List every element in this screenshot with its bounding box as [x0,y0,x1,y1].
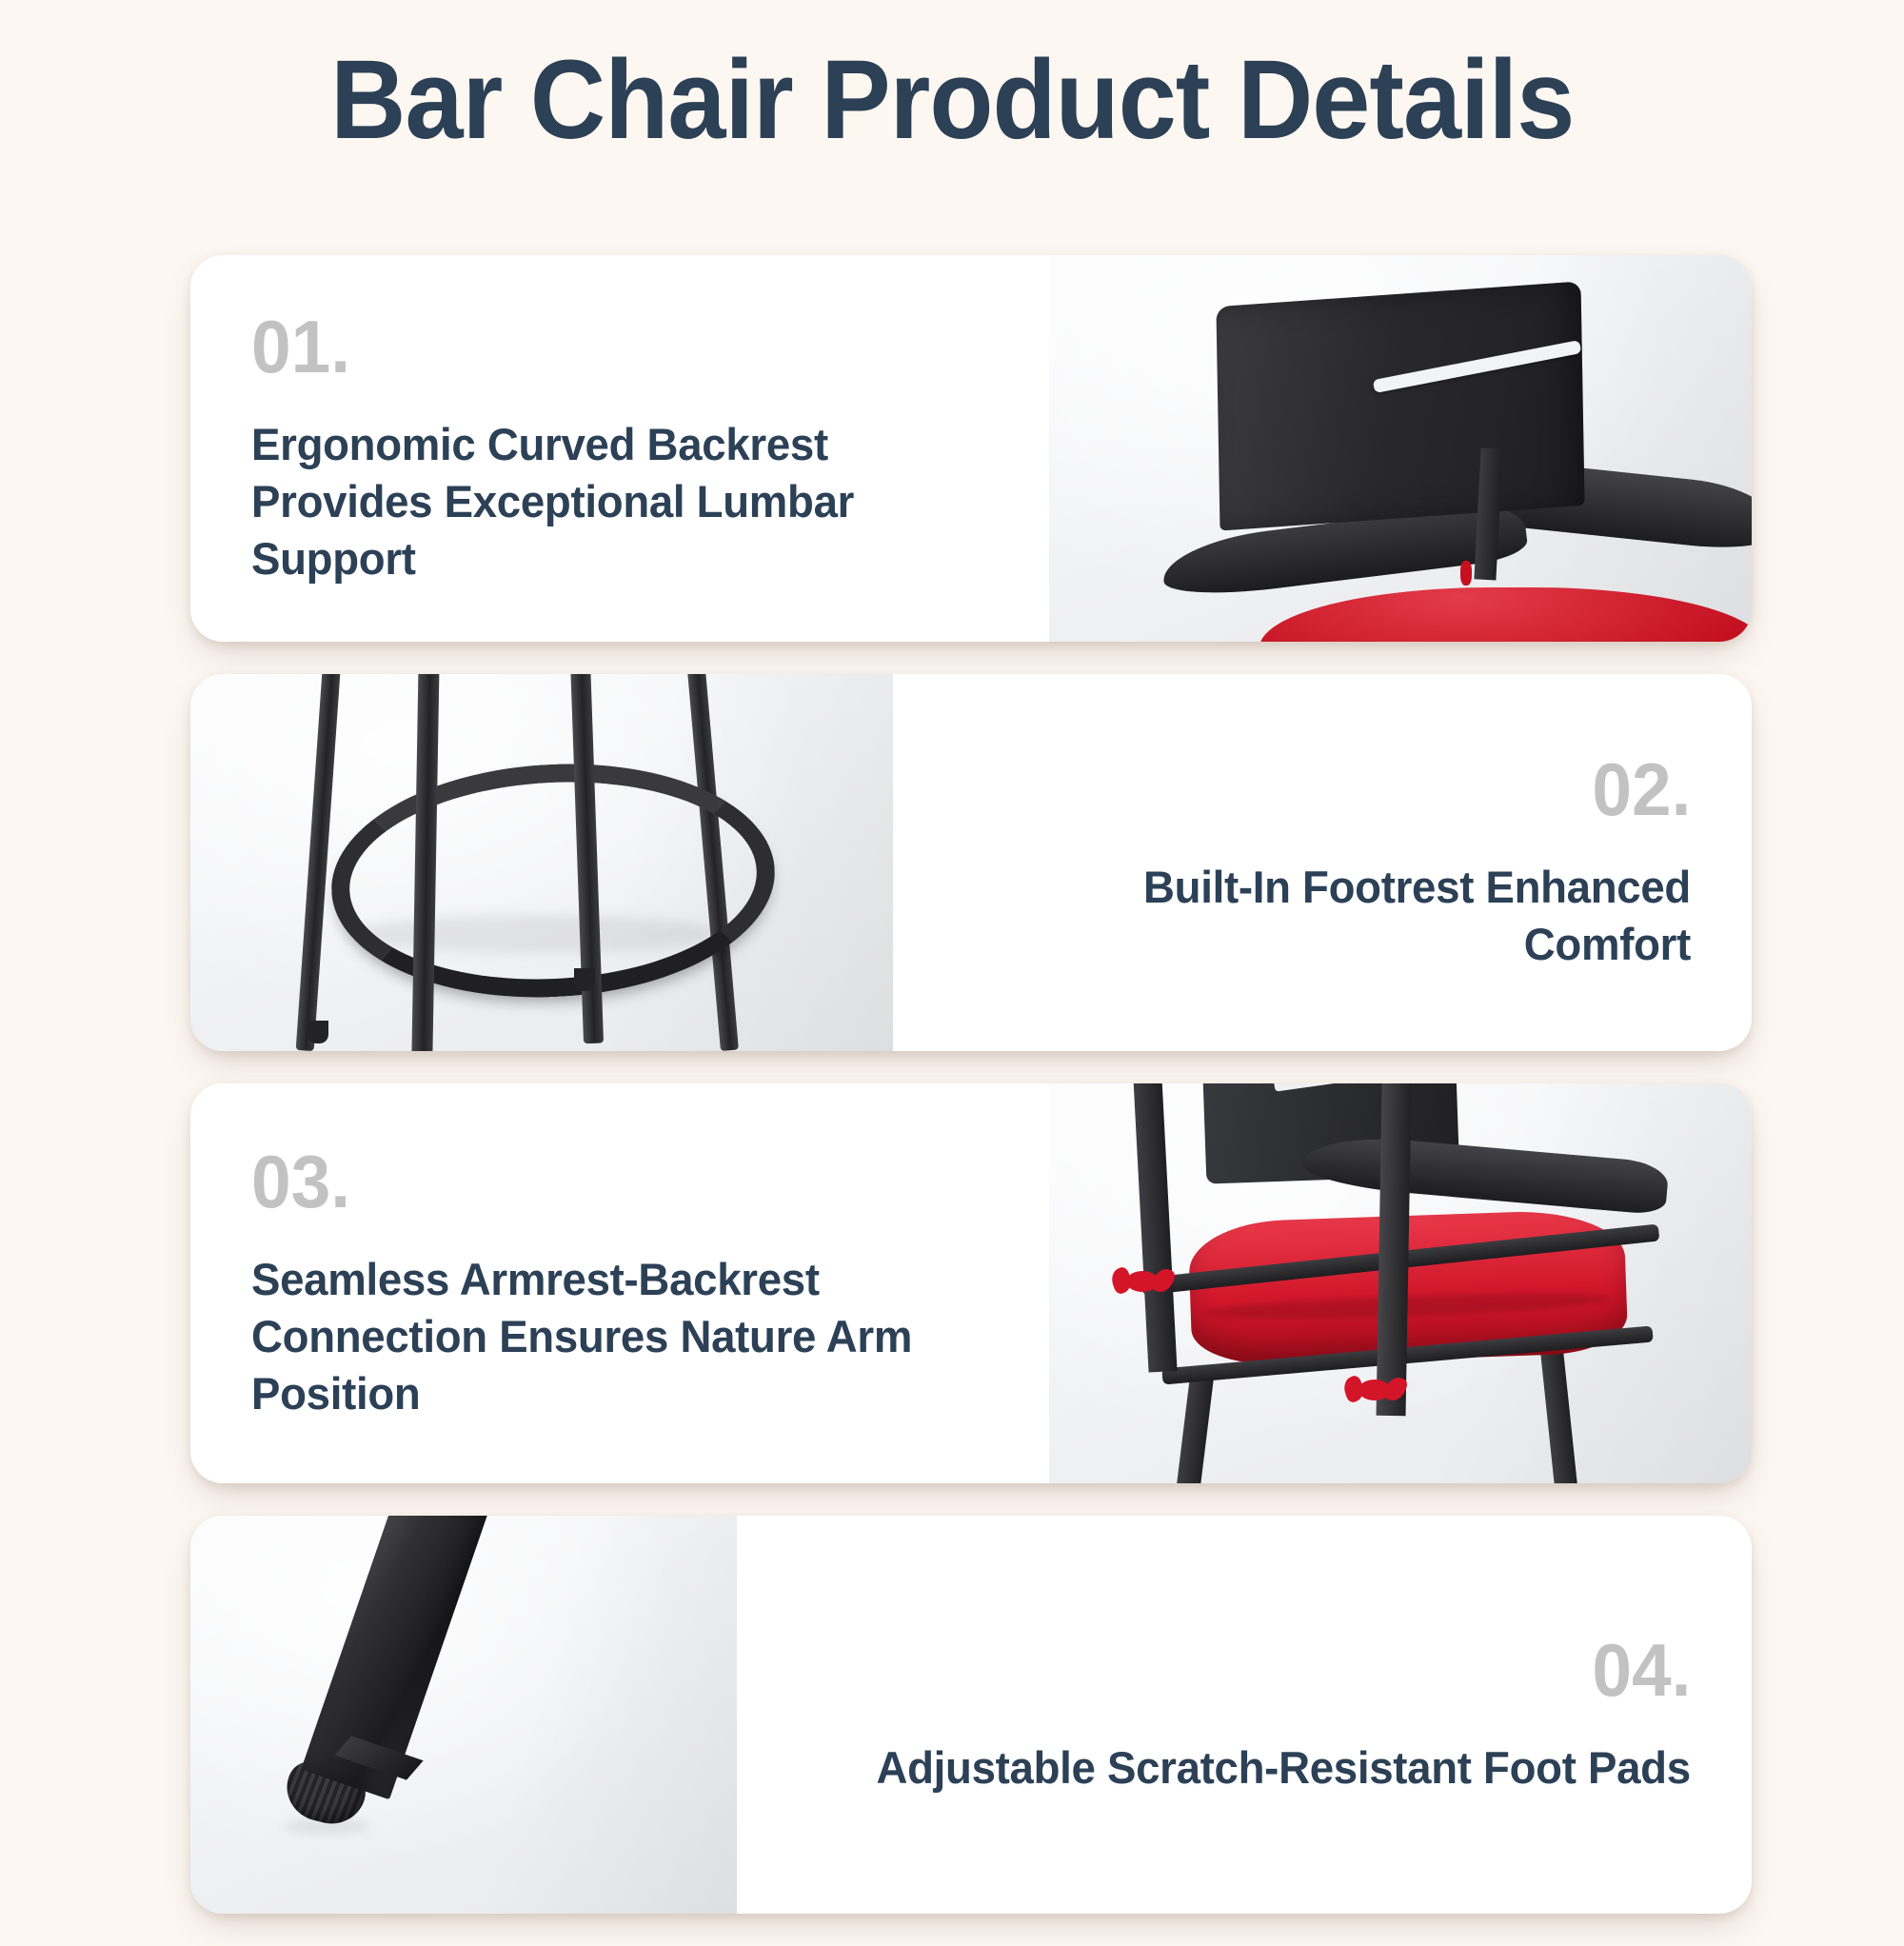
feature-card-1[interactable]: 01. Ergonomic Curved Backrest Provides E… [190,255,1752,642]
chair-backrest-photo [1049,255,1752,642]
card-1-text-pane: 01. Ergonomic Curved Backrest Provides E… [190,255,1049,642]
card-2-text-pane: 02. Built-In Footrest Enhanced Comfort [893,674,1752,1051]
feature-card-2[interactable]: 02. Built-In Footrest Enhanced Comfort [190,674,1752,1051]
card-4-text-pane: 04. Adjustable Scratch-Resistant Foot Pa… [737,1516,1752,1914]
card-4-description: Adjustable Scratch-Resistant Foot Pads [877,1739,1691,1797]
card-1-description: Ergonomic Curved Backrest Provides Excep… [251,416,966,587]
product-details-infographic: Bar Chair Product Details 01. Ergonomic … [0,0,1904,1904]
adjustable-foot-pad-photo [190,1516,737,1914]
card-2-description: Built-In Footrest Enhanced Comfort [976,859,1691,973]
card-3-image [1049,1083,1752,1483]
armrest-backrest-cushion-photo [1049,1083,1752,1483]
card-2-image [190,674,893,1051]
feature-card-3[interactable]: 03. Seamless Armrest-Backrest Connection… [190,1083,1752,1483]
card-3-number: 03. [251,1144,350,1219]
card-3-text-pane: 03. Seamless Armrest-Backrest Connection… [190,1083,1049,1483]
leg-foot-2 [574,968,595,991]
leg-foot-1 [307,1021,329,1043]
cushion-tie-shape [1460,561,1472,586]
title-container: Bar Chair Product Details [0,0,1904,160]
backrest-panel-shape [1217,281,1585,531]
feature-card-4[interactable]: 04. Adjustable Scratch-Resistant Foot Pa… [190,1516,1752,1914]
page-title: Bar Chair Product Details [330,42,1574,160]
card-1-image [1049,255,1752,642]
cushion-tie-bow-1 [1126,1271,1159,1292]
card-3-description: Seamless Armrest-Backrest Connection Ens… [251,1251,966,1422]
card-2-number: 02. [1592,752,1691,826]
card-1-number: 01. [251,309,350,384]
cushion-tie-bow-2 [1359,1380,1391,1400]
card-4-number: 04. [1592,1633,1691,1707]
feature-card-list: 01. Ergonomic Curved Backrest Provides E… [190,255,1752,1946]
card-4-image [190,1516,737,1914]
footrest-ring-photo [190,674,893,1051]
